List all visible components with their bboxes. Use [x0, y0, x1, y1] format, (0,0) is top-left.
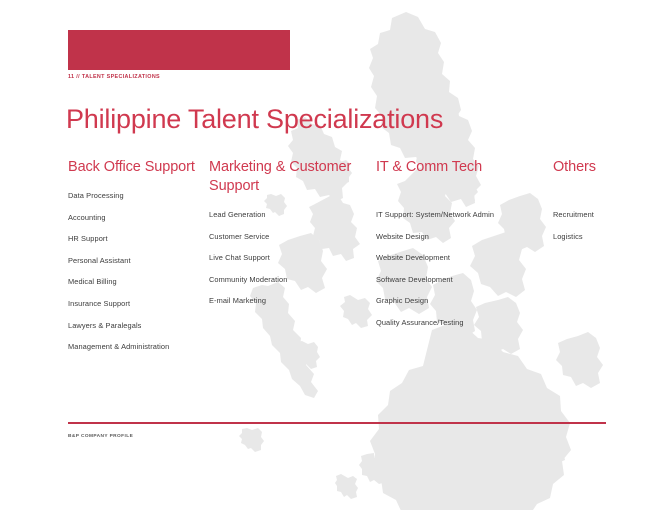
column-heading: Back Office Support: [68, 158, 203, 177]
kicker-label: TALENT SPECIALIZATIONS: [82, 74, 160, 80]
list-item: IT Support: System/Network Admin: [376, 210, 551, 219]
list-item: Accounting: [68, 213, 203, 222]
list-item: Personal Assistant: [68, 256, 203, 265]
page-title: Philippine Talent Specializations: [66, 103, 443, 135]
footer-label: B&P COMPANY PROFILE: [68, 433, 133, 440]
list-item: Community Moderation: [209, 275, 369, 284]
list-item: Website Design: [376, 232, 551, 241]
slide-kicker: 11 // TALENT SPECIALIZATIONS: [68, 73, 160, 81]
column-heading: Others: [553, 158, 663, 177]
column-it-comm-tech: IT & Comm Tech IT Support: System/Networ…: [376, 158, 551, 340]
list-item: E-mail Marketing: [209, 296, 369, 305]
list-item: Insurance Support: [68, 299, 203, 308]
list-item: Lawyers & Paralegals: [68, 321, 203, 330]
list-item: Data Processing: [68, 191, 203, 200]
list-item: Website Development: [376, 253, 551, 262]
kicker-separator: //: [76, 74, 80, 80]
column-item-list: Lead Generation Customer Service Live Ch…: [209, 210, 369, 305]
list-item: Recruitment: [553, 210, 663, 219]
list-item: Lead Generation: [209, 210, 369, 219]
list-item: Management & Administration: [68, 342, 203, 351]
column-heading: Marketing & Customer Support: [209, 158, 369, 196]
footer-divider: [68, 422, 606, 424]
list-item: Customer Service: [209, 232, 369, 241]
list-item: Software Development: [376, 275, 551, 284]
slide-canvas: 11 // TALENT SPECIALIZATIONS Philippine …: [0, 0, 672, 510]
list-item: Quality Assurance/Testing: [376, 318, 551, 327]
list-item: HR Support: [68, 234, 203, 243]
header-red-block: [68, 30, 290, 70]
column-marketing-customer-support: Marketing & Customer Support Lead Genera…: [209, 158, 369, 318]
list-item: Medical Billing: [68, 277, 203, 286]
list-item: Graphic Design: [376, 296, 551, 305]
column-item-list: Recruitment Logistics: [553, 210, 663, 241]
kicker-number: 11: [68, 74, 74, 80]
column-item-list: IT Support: System/Network Admin Website…: [376, 210, 551, 327]
column-back-office-support: Back Office Support Data Processing Acco…: [68, 158, 203, 364]
column-heading: IT & Comm Tech: [376, 158, 551, 177]
list-item: Logistics: [553, 232, 663, 241]
column-item-list: Data Processing Accounting HR Support Pe…: [68, 191, 203, 351]
list-item: Live Chat Support: [209, 253, 369, 262]
column-others: Others Recruitment Logistics: [553, 158, 663, 253]
